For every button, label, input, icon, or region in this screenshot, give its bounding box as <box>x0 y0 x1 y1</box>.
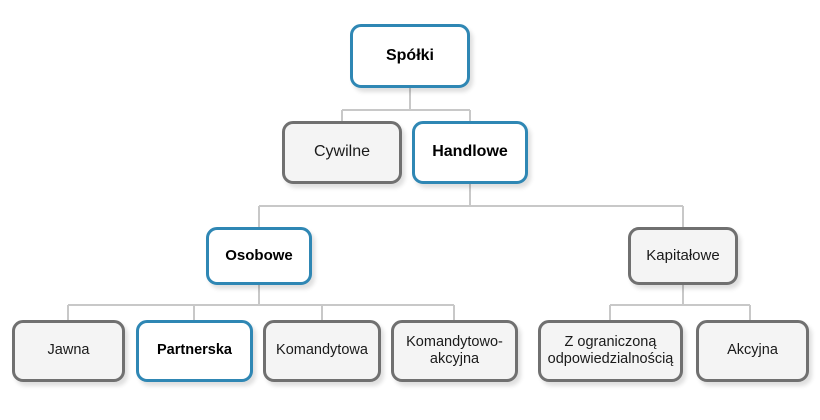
node-label: Kapitałowe <box>646 247 719 265</box>
node-osobowe[interactable]: Osobowe <box>206 227 312 285</box>
node-cywilne[interactable]: Cywilne <box>282 121 402 184</box>
node-jawna[interactable]: Jawna <box>12 320 125 382</box>
node-label: Akcyjna <box>727 342 778 359</box>
node-akcyjna[interactable]: Akcyjna <box>696 320 809 382</box>
node-label: Spółki <box>386 47 434 66</box>
node-kapitalowe[interactable]: Kapitałowe <box>628 227 738 285</box>
node-partnerska[interactable]: Partnerska <box>136 320 253 382</box>
node-label: Handlowe <box>432 143 508 162</box>
node-label: Cywilne <box>314 143 370 162</box>
node-label: Osobowe <box>225 247 293 265</box>
node-handlowe[interactable]: Handlowe <box>412 121 528 184</box>
node-komandytowa[interactable]: Komandytowa <box>263 320 381 382</box>
node-label: Jawna <box>48 342 90 359</box>
node-label: Komandytowo- akcyjna <box>406 334 503 368</box>
node-label: Partnerska <box>157 342 232 359</box>
org-chart-diagram: Spółki Cywilne Handlowe Osobowe Kapitało… <box>0 0 820 420</box>
node-z-ograniczona-odpowiedzialnoscia[interactable]: Z ograniczoną odpowiedzialnością <box>538 320 683 382</box>
node-label: Z ograniczoną odpowiedzialnością <box>548 334 674 368</box>
node-komandytowo-akcyjna[interactable]: Komandytowo- akcyjna <box>391 320 518 382</box>
node-label: Komandytowa <box>276 342 368 359</box>
node-spolki[interactable]: Spółki <box>350 24 470 88</box>
